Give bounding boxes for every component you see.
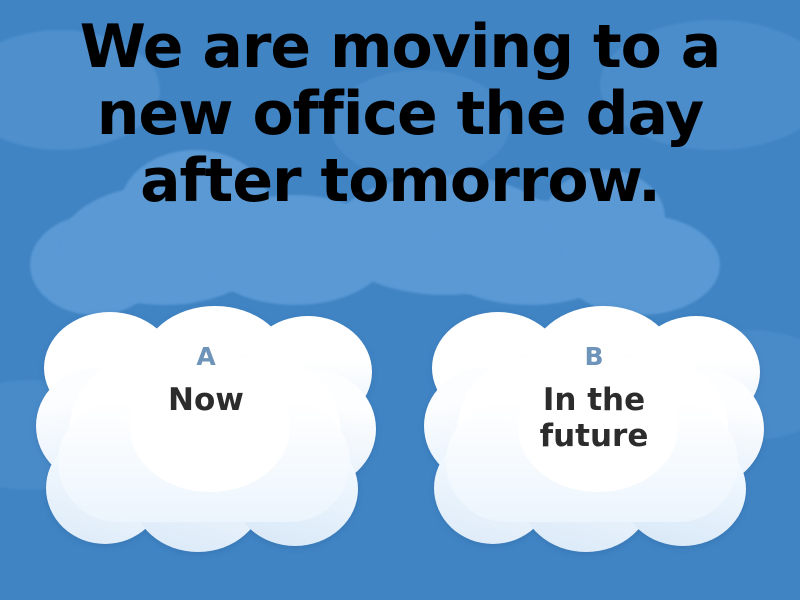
answer-options: A Now B In the future (0, 306, 800, 568)
answer-letter-a: A (196, 344, 215, 369)
answer-letter-b: B (584, 344, 603, 369)
answer-text-a: Now (168, 383, 244, 419)
answer-option-a[interactable]: A Now (36, 306, 376, 556)
answer-option-b[interactable]: B In the future (424, 306, 764, 556)
background-cloud-icon (560, 215, 720, 315)
answer-text-b: In the future (540, 383, 649, 454)
quiz-screen: We are moving to a new office the day af… (0, 0, 800, 600)
background-cloud-icon (30, 215, 160, 315)
question-text: We are moving to a new office the day af… (0, 14, 800, 216)
